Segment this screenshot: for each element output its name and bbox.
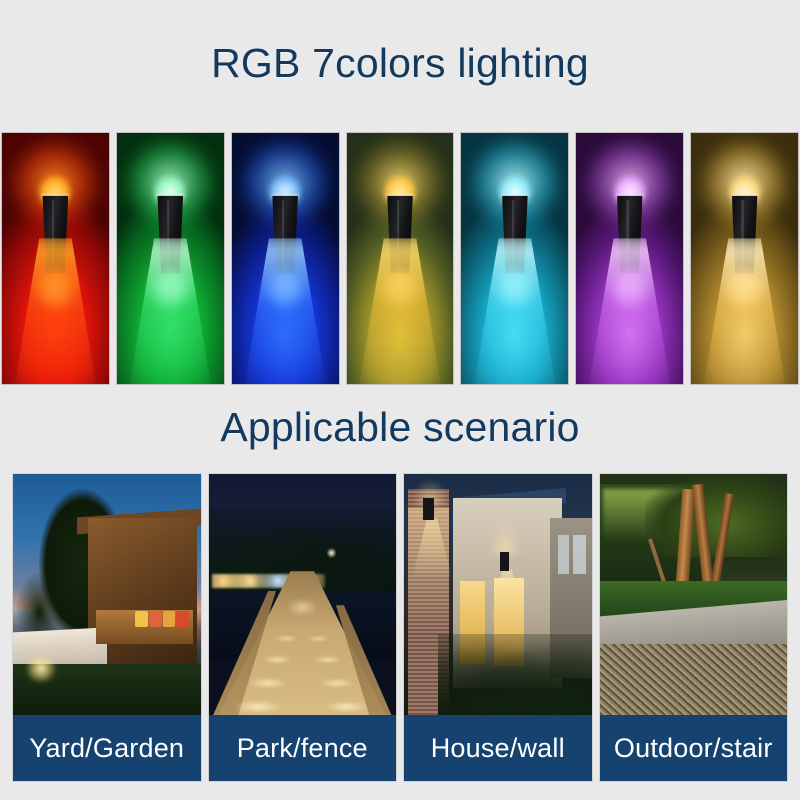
photo-garden-pergola-at-dusk (13, 474, 201, 717)
photo-uplit-tree-and-gravel-path (600, 474, 788, 717)
scenario-card-park-fence[interactable]: Park/fence (208, 473, 398, 782)
wooden-bench (96, 610, 194, 644)
color-panel-warm-white[interactable] (690, 132, 799, 385)
color-panel-blue[interactable] (231, 132, 340, 385)
foreground-plants (438, 634, 592, 717)
color-panel-green[interactable] (116, 132, 225, 385)
product-infographic-page: RGB 7colors lighting (0, 0, 800, 800)
gravel-path (600, 644, 788, 717)
window (573, 535, 586, 574)
cushion (149, 611, 162, 627)
deck-light-glows (224, 581, 382, 712)
wall-lamp-on-facade (500, 552, 509, 571)
section-title-applicable-scenario: Applicable scenario (0, 404, 800, 451)
scenario-caption-yard-garden: Yard/Garden (13, 715, 201, 781)
color-panel-red[interactable] (1, 132, 110, 385)
window (558, 535, 569, 574)
cushion (176, 611, 189, 627)
scenario-card-yard-garden[interactable]: Yard/Garden (12, 473, 202, 782)
scenario-card-outdoor-stair[interactable]: Outdoor/stair (599, 473, 789, 782)
scenario-card-house-wall[interactable]: House/wall (403, 473, 593, 782)
scenario-caption-house-wall: House/wall (404, 715, 592, 781)
cushion (163, 611, 176, 627)
scenario-caption-park-fence: Park/fence (209, 715, 397, 781)
color-panel-strip (0, 132, 800, 385)
photo-house-facade-wall-lights (404, 474, 592, 717)
photo-lit-boardwalk-over-water (209, 474, 397, 717)
scenario-caption-outdoor-stair: Outdoor/stair (600, 715, 788, 781)
cushion (135, 611, 148, 627)
tree-canopy (645, 474, 788, 557)
color-panel-cyan[interactable] (460, 132, 569, 385)
page-title-rgb-lighting: RGB 7colors lighting (0, 40, 800, 87)
garden-light-glow (26, 654, 56, 683)
scenario-strip: Yard/Garden Park/fence (12, 473, 788, 782)
color-panel-purple[interactable] (575, 132, 684, 385)
park-lamp-post-glow (327, 547, 336, 559)
wall-light-upward-cone (488, 523, 522, 555)
color-panel-yellow[interactable] (346, 132, 455, 385)
wall-lamp-on-column (423, 498, 434, 520)
